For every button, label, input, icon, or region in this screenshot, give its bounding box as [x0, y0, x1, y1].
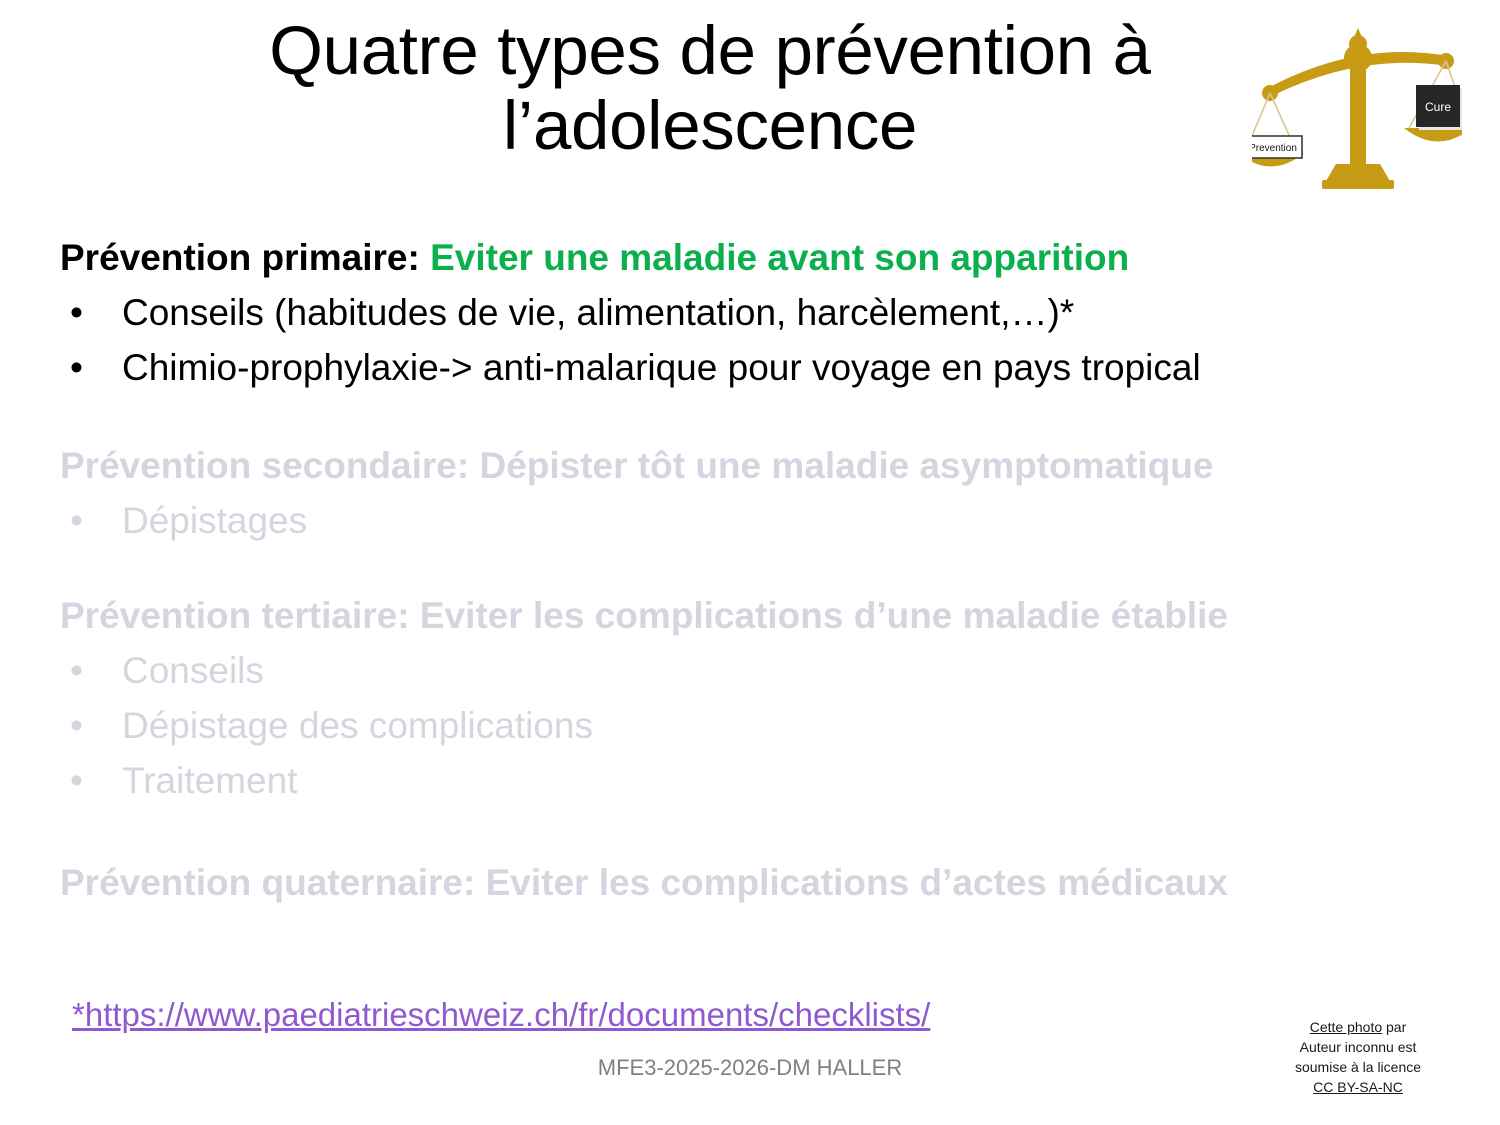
- section-heading: Prévention primaire: Eviter une maladie …: [60, 236, 1470, 280]
- section-prevention-quaternaire: Prévention quaternaire: Eviter les compl…: [60, 861, 1470, 905]
- list-item: • Chimio-prophylaxie-> anti-malarique po…: [60, 341, 1470, 396]
- section-heading-accent: Dépister tôt une maladie asymptomatique: [479, 445, 1213, 486]
- photo-credit-line2: Auteur inconnu est: [1300, 1039, 1417, 1055]
- cure-label-text: Cure: [1425, 100, 1451, 114]
- section-heading-label: Prévention primaire:: [60, 237, 430, 278]
- photo-credit-license-link[interactable]: CC BY-SA-NC: [1313, 1079, 1403, 1095]
- cure-label-box: Cure: [1416, 85, 1462, 130]
- bullet-dot-icon: •: [70, 286, 83, 341]
- list-item: • Conseils: [60, 644, 1470, 699]
- list-item-text: Traitement: [122, 760, 297, 801]
- list-item-text: Dépistage des complications: [122, 705, 593, 746]
- source-link[interactable]: *https://www.paediatrieschweiz.ch/fr/doc…: [72, 996, 930, 1034]
- page-title: Quatre types de prévention à l’adolescen…: [120, 14, 1300, 163]
- section-heading-accent: Eviter les complications d’une maladie é…: [420, 595, 1228, 636]
- photo-credit-link[interactable]: Cette photo: [1310, 1019, 1382, 1035]
- bullet-dot-icon: •: [70, 341, 83, 396]
- list-item: • Dépistages: [60, 494, 1470, 549]
- section-prevention-primaire: Prévention primaire: Eviter une maladie …: [60, 236, 1470, 396]
- prevention-label-box: Prevention: [1252, 136, 1302, 158]
- bullet-list: • Dépistages: [60, 494, 1470, 549]
- list-item-text: Dépistages: [122, 500, 307, 541]
- balance-scale-image: Prevention Cure: [1252, 14, 1462, 196]
- section-prevention-tertiaire: Prévention tertiaire: Eviter les complic…: [60, 594, 1470, 809]
- section-heading-accent: Eviter une maladie avant son apparition: [430, 237, 1129, 278]
- bullet-list: • Conseils (habitudes de vie, alimentati…: [60, 286, 1470, 396]
- section-prevention-secondaire: Prévention secondaire: Dépister tôt une …: [60, 444, 1470, 549]
- section-heading-label: Prévention tertiaire:: [60, 595, 420, 636]
- bullet-dot-icon: •: [70, 754, 83, 809]
- section-heading: Prévention secondaire: Dépister tôt une …: [60, 444, 1470, 488]
- bullet-dot-icon: •: [70, 699, 83, 754]
- photo-credit: Cette photo par Auteur inconnu est soumi…: [1258, 1018, 1458, 1098]
- list-item-text: Conseils: [122, 650, 264, 691]
- section-heading-label: Prévention secondaire:: [60, 445, 479, 486]
- list-item-text: Conseils (habitudes de vie, alimentation…: [122, 292, 1074, 333]
- slide-title-text: Quatre types de prévention à l’adolescen…: [120, 14, 1300, 163]
- photo-credit-line1-rest: par: [1382, 1019, 1406, 1035]
- section-heading: Prévention quaternaire: Eviter les compl…: [60, 861, 1470, 905]
- prevention-label-text: Prevention: [1252, 143, 1297, 154]
- slide-canvas: Quatre types de prévention à l’adolescen…: [0, 0, 1500, 1125]
- bullet-list: • Conseils • Dépistage des complications…: [60, 644, 1470, 808]
- bullet-dot-icon: •: [70, 494, 83, 549]
- section-heading-accent: Eviter les complications d’actes médicau…: [486, 862, 1228, 903]
- list-item: • Traitement: [60, 754, 1470, 809]
- content-body: Prévention primaire: Eviter une maladie …: [60, 236, 1470, 911]
- list-item-text: Chimio-prophylaxie-> anti-malarique pour…: [122, 347, 1201, 388]
- bullet-dot-icon: •: [70, 644, 83, 699]
- list-item: • Dépistage des complications: [60, 699, 1470, 754]
- list-item: • Conseils (habitudes de vie, alimentati…: [60, 286, 1470, 341]
- section-heading-label: Prévention quaternaire:: [60, 862, 486, 903]
- section-heading: Prévention tertiaire: Eviter les complic…: [60, 594, 1470, 638]
- scale-base-icon: [1322, 180, 1394, 189]
- photo-credit-line3: soumise à la licence: [1295, 1059, 1421, 1075]
